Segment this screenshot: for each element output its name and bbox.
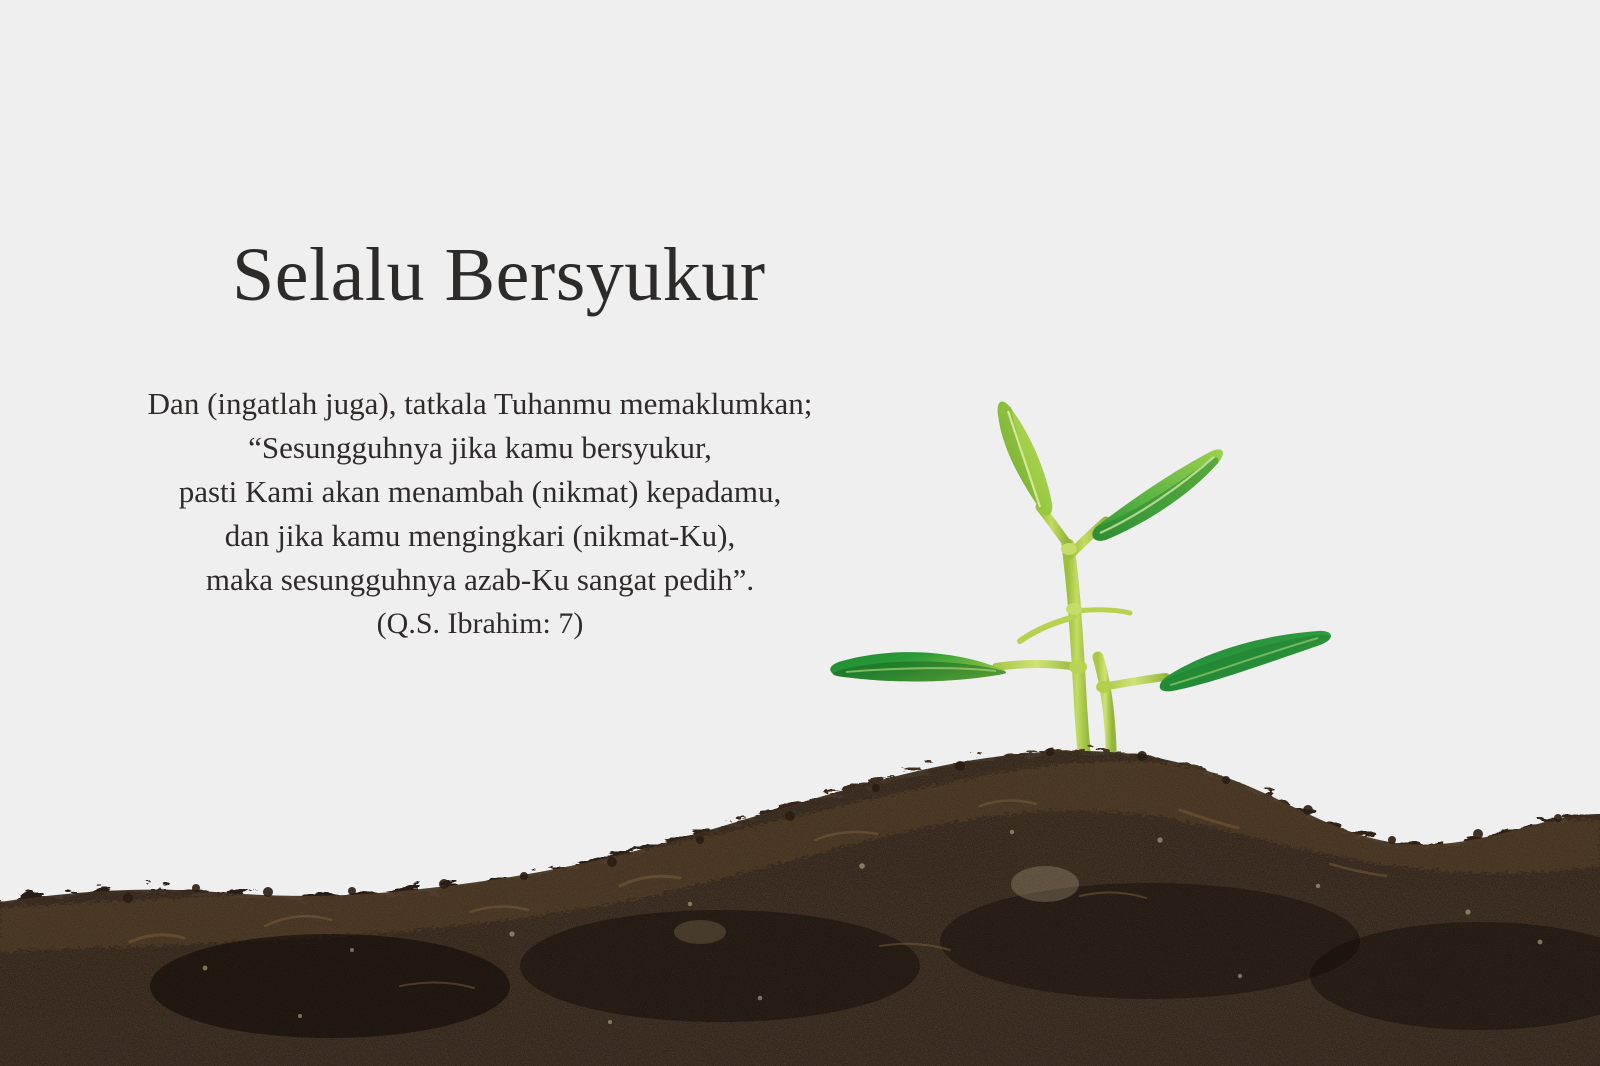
verse-line-4: dan jika kamu mengingkari (nikmat-Ku), [0, 514, 960, 558]
verse-line-5: maka sesungguhnya azab-Ku sangat pedih”. [0, 558, 960, 602]
text-block: Selalu Bersyukur Dan (ingatlah juga), ta… [0, 0, 980, 700]
soil-mound [0, 736, 1600, 1066]
lower-right-leaf [1160, 631, 1331, 691]
verse-line-3: pasti Kami akan menambah (nikmat) kepada… [0, 470, 960, 514]
page-title: Selalu Bersyukur [232, 236, 766, 316]
upper-right-leaf [1092, 449, 1223, 540]
verse-line-2: “Sesungguhnya jika kamu bersyukur, [0, 426, 960, 470]
verse-line-1: Dan (ingatlah juga), tatkala Tuhanmu mem… [0, 382, 960, 426]
verse-text: Dan (ingatlah juga), tatkala Tuhanmu mem… [0, 382, 960, 646]
verse-reference: (Q.S. Ibrahim: 7) [0, 602, 960, 646]
slide-canvas: Selalu Bersyukur Dan (ingatlah juga), ta… [0, 0, 1600, 1066]
upper-left-leaf [998, 401, 1053, 515]
